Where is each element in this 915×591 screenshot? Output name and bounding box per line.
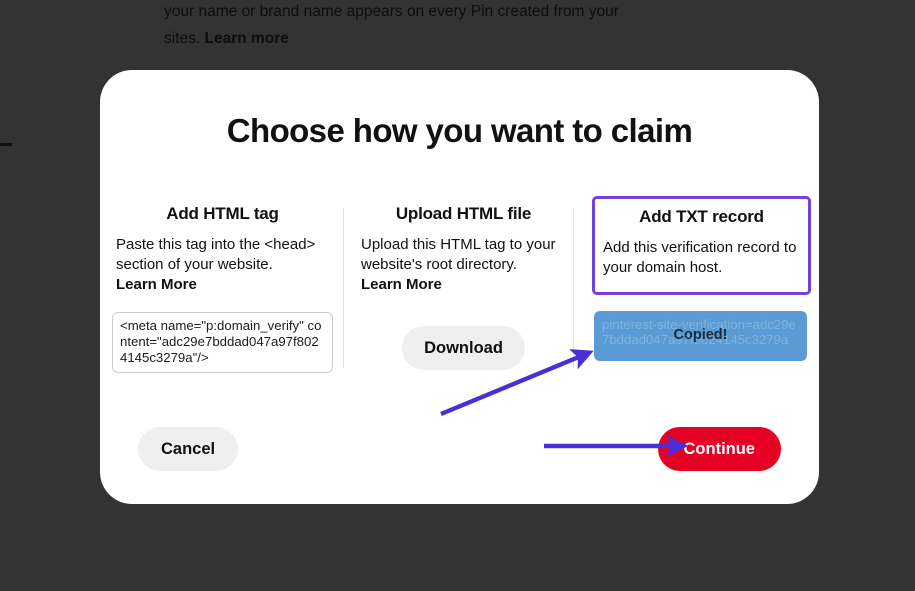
option-description: Add this verification record to your dom… <box>603 238 800 278</box>
option-header-block: Add HTML tag Paste this tag into the <he… <box>112 202 333 299</box>
option-header-block: Upload HTML file Upload this HTML tag to… <box>357 202 570 299</box>
option-add-txt-record[interactable]: Add TXT record Add this verification rec… <box>582 202 819 372</box>
option-description-text: Upload this HTML tag to your website's r… <box>361 236 556 273</box>
option-description: Upload this HTML tag to your website's r… <box>361 235 566 295</box>
option-header-block-highlighted[interactable]: Add TXT record Add this verification rec… <box>592 196 811 295</box>
claim-options-row: Add HTML tag Paste this tag into the <he… <box>100 202 819 372</box>
option-upload-html-file[interactable]: Upload HTML file Upload this HTML tag to… <box>345 202 582 372</box>
continue-button[interactable]: Continue <box>658 427 782 471</box>
option-add-html-tag[interactable]: Add HTML tag Paste this tag into the <he… <box>100 202 345 372</box>
learn-more-link[interactable]: Learn More <box>361 275 566 295</box>
option-description: Paste this tag into the <head> section o… <box>116 235 329 295</box>
txt-record-value[interactable]: pinterest-site-verification=adc29e7bddad… <box>594 311 807 361</box>
background-body-line-2: sites. <box>164 30 204 47</box>
background-sidebar: tion ment s ns ns <box>0 0 108 591</box>
option-title: Add TXT record <box>603 207 800 227</box>
sidebar-divider-dash <box>0 143 12 146</box>
learn-more-link[interactable]: Learn More <box>116 275 329 295</box>
meta-tag-code-box[interactable]: <meta name="p:domain_verify" content="ad… <box>112 312 333 373</box>
download-button-wrap: Download <box>357 326 570 370</box>
modal-footer: Cancel Continue <box>100 426 819 472</box>
background-learn-more-link[interactable]: Learn more <box>204 30 288 47</box>
option-description-text: Paste this tag into the <head> section o… <box>116 236 315 273</box>
background-body-line-1: your name or brand name appears on every… <box>164 3 619 20</box>
download-button[interactable]: Download <box>402 326 525 370</box>
claim-method-modal: Choose how you want to claim Add HTML ta… <box>100 70 819 504</box>
option-title: Upload HTML file <box>361 204 566 224</box>
option-title: Add HTML tag <box>116 204 329 224</box>
page-title: Choose how you want to claim <box>100 112 819 150</box>
txt-record-value-wrap: pinterest-site-verification=adc29e7bddad… <box>594 311 807 361</box>
background-body-text: your name or brand name appears on every… <box>164 0 644 52</box>
cancel-button[interactable]: Cancel <box>138 427 238 471</box>
